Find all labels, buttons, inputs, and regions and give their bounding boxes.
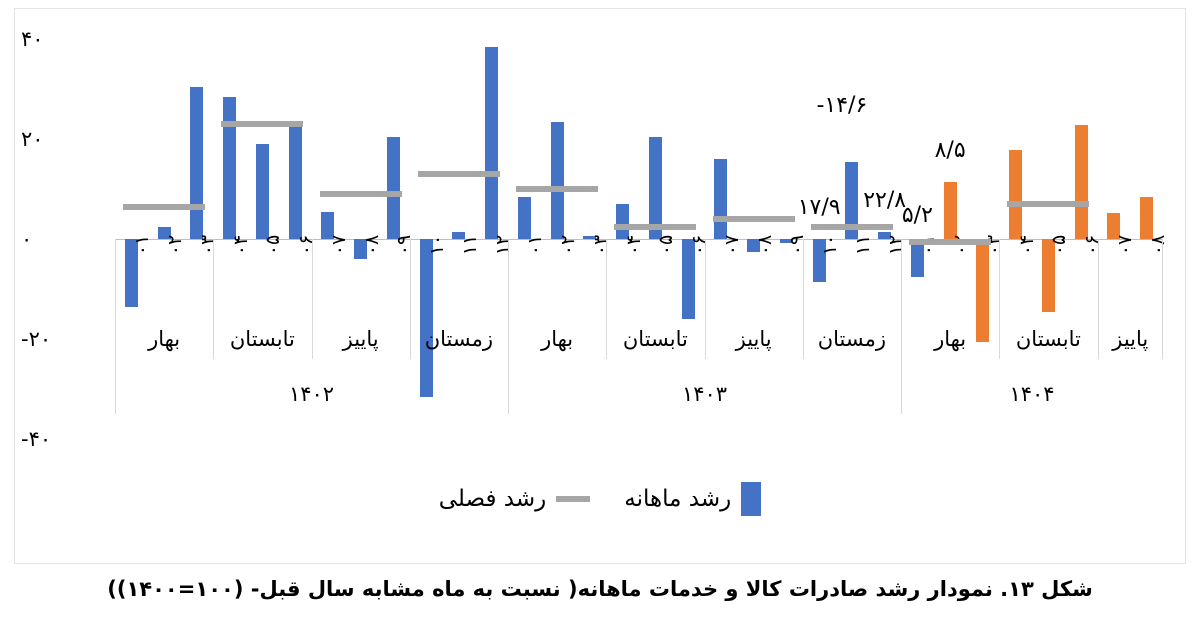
x-axis-month-label: ۰۲ bbox=[164, 223, 186, 267]
y-axis-tick-label: ۴۰ bbox=[21, 27, 111, 51]
bar bbox=[190, 87, 203, 240]
x-axis-month-label: ۰۶ bbox=[1081, 223, 1103, 267]
data-label: ۸/۵ bbox=[905, 138, 995, 163]
x-axis-month-label: ۰۱ bbox=[524, 223, 546, 267]
caption-line: شکل ۱۳. نمودار رشد صادرات کالا و خدمات م… bbox=[107, 577, 1092, 601]
x-axis-month-label: ۰۵ bbox=[655, 223, 677, 267]
chart-legend: رشد ماهانه رشد فصلی bbox=[15, 479, 1185, 519]
x-axis-month-label: ۰۳ bbox=[197, 223, 219, 267]
x-axis-month-label: ۰۴ bbox=[1016, 223, 1038, 267]
year-separator bbox=[901, 239, 902, 414]
x-axis-month-label: ۰۹ bbox=[393, 223, 415, 267]
y-axis-tick-label: ۲۰- bbox=[21, 327, 111, 351]
x-axis-month-label: ۰۲ bbox=[557, 223, 579, 267]
quarterly-average-line bbox=[320, 191, 402, 197]
bar bbox=[485, 47, 498, 240]
plot-area: ۴۰۲۰۰۲۰-۴۰-۰۱۰۲۰۳۰۴۰۵۰۶۰۷۰۸۰۹۱۰۱۱۱۲۰۱۰۲۰… bbox=[115, 39, 1163, 439]
legend-label-monthly: رشد ماهانه bbox=[624, 486, 731, 512]
quarterly-average-line bbox=[516, 186, 598, 192]
x-axis-month-label: ۰۵ bbox=[262, 223, 284, 267]
x-axis-month-label: ۰۸ bbox=[754, 223, 776, 267]
x-axis-month-label: ۰۸ bbox=[1147, 223, 1169, 267]
legend-item-quarterly-growth: رشد فصلی bbox=[439, 486, 591, 512]
x-axis-month-label: ۰۹ bbox=[786, 223, 808, 267]
year-label: ۱۴۰۲ bbox=[252, 382, 372, 406]
plot-left-border bbox=[115, 239, 116, 414]
bar bbox=[551, 122, 564, 240]
figure-caption: شکل ۱۳. نمودار رشد صادرات کالا و خدمات م… bbox=[0, 575, 1200, 603]
x-axis-month-label: ۰۴ bbox=[623, 223, 645, 267]
data-label: ۵/۲ bbox=[872, 203, 962, 228]
quarterly-average-line bbox=[418, 171, 500, 177]
bar bbox=[289, 124, 302, 239]
x-axis-month-label: ۰۱ bbox=[917, 223, 939, 267]
y-axis-tick-label: ۴۰- bbox=[21, 427, 111, 451]
x-axis-month-label: ۰۷ bbox=[1114, 223, 1136, 267]
x-axis-month-label: ۰۱ bbox=[131, 223, 153, 267]
legend-line-swatch bbox=[556, 496, 590, 502]
chart-frame: ۴۰۲۰۰۲۰-۴۰-۰۱۰۲۰۳۰۴۰۵۰۶۰۷۰۸۰۹۱۰۱۱۱۲۰۱۰۲۰… bbox=[14, 8, 1186, 564]
season-label: پاییز bbox=[1070, 327, 1190, 351]
x-axis-month-label: ۰۲ bbox=[950, 223, 972, 267]
year-label: ۱۴۰۳ bbox=[645, 382, 765, 406]
year-label: ۱۴۰۴ bbox=[972, 382, 1092, 406]
quarterly-average-line bbox=[221, 121, 303, 127]
quarterly-average-line bbox=[614, 224, 696, 230]
plot-right-border bbox=[1162, 239, 1163, 359]
x-axis-month-label: ۱۰ bbox=[426, 223, 448, 267]
x-axis-month-label: ۱۰ bbox=[819, 223, 841, 267]
legend-item-monthly-growth: رشد ماهانه bbox=[624, 482, 761, 516]
legend-bar-swatch bbox=[741, 482, 761, 516]
year-separator bbox=[508, 239, 509, 414]
x-axis-month-label: ۱۱ bbox=[459, 223, 481, 267]
x-axis-month-label: ۱۱ bbox=[852, 223, 874, 267]
bar bbox=[1075, 125, 1088, 239]
x-axis-month-label: ۰۷ bbox=[721, 223, 743, 267]
x-axis-month-label: ۰۸ bbox=[361, 223, 383, 267]
x-axis-month-label: ۰۳ bbox=[590, 223, 612, 267]
x-axis-month-label: ۱۲ bbox=[885, 223, 907, 267]
bar bbox=[223, 97, 236, 240]
x-axis-month-label: ۰۷ bbox=[328, 223, 350, 267]
y-axis-tick-label: ۰ bbox=[21, 227, 111, 251]
x-axis-month-label: ۰۶ bbox=[295, 223, 317, 267]
quarterly-average-line bbox=[1007, 201, 1089, 207]
data-label: ۱۴/۶- bbox=[797, 93, 887, 118]
quarterly-average-line bbox=[123, 204, 205, 210]
x-axis-month-label: ۰۶ bbox=[688, 223, 710, 267]
legend-label-quarterly: رشد فصلی bbox=[439, 486, 547, 512]
x-axis-month-label: ۰۳ bbox=[983, 223, 1005, 267]
x-axis-month-label: ۰۴ bbox=[230, 223, 252, 267]
x-axis-month-label: ۱۲ bbox=[492, 223, 514, 267]
quarterly-average-line bbox=[909, 239, 991, 245]
x-axis-month-label: ۰۵ bbox=[1048, 223, 1070, 267]
y-axis-tick-label: ۲۰ bbox=[21, 127, 111, 151]
